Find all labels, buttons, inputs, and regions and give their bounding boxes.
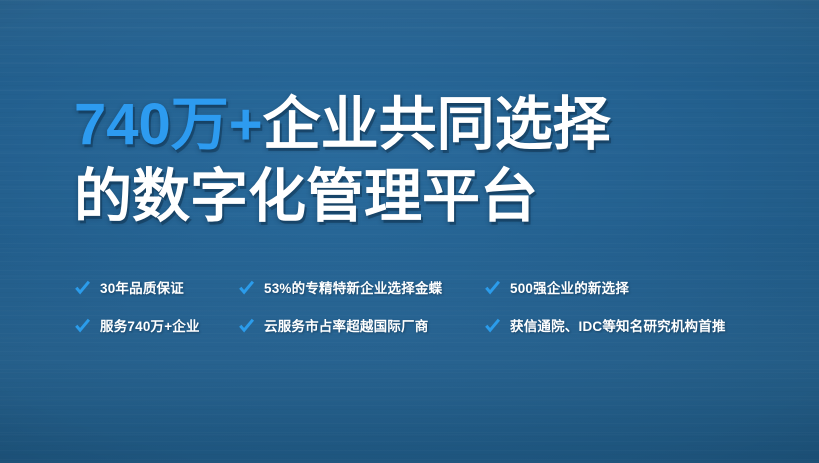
bullet-label: 53%的专精特新企业选择金蝶 (264, 277, 442, 297)
bullet-item-quality-guarantee: 30年品质保证 (74, 277, 238, 297)
bullet-label: 500强企业的新选择 (510, 277, 629, 297)
check-icon (74, 279, 91, 296)
banner-content: 740万+企业共同选择 的数字化管理平台 30年品质保证 53%的专精特新企业选… (0, 0, 819, 463)
promo-banner: 740万+企业共同选择 的数字化管理平台 30年品质保证 53%的专精特新企业选… (0, 0, 819, 463)
check-icon (238, 279, 255, 296)
bullet-item-sme-share: 53%的专精特新企业选择金蝶 (238, 277, 484, 297)
check-icon (74, 317, 91, 334)
bullet-item-enterprises-served: 服务740万+企业 (74, 315, 238, 335)
headline-line-1-rest: 企业共同选择 (263, 92, 611, 157)
bullet-label: 云服务市占率超越国际厂商 (264, 315, 428, 335)
bullet-item-analyst-recommended: 获信通院、IDC等知名研究机构首推 (484, 315, 774, 335)
feature-bullet-grid: 30年品质保证 53%的专精特新企业选择金蝶 500强企业的新选择 (74, 268, 774, 344)
check-icon (484, 317, 501, 334)
headline-accent-number: 740万+ (74, 92, 263, 157)
bullet-item-fortune-500: 500强企业的新选择 (484, 277, 774, 297)
bullet-label: 30年品质保证 (100, 277, 184, 297)
bullet-row-1: 30年品质保证 53%的专精特新企业选择金蝶 500强企业的新选择 (74, 268, 774, 306)
bullet-label: 服务740万+企业 (100, 315, 200, 335)
check-icon (484, 279, 501, 296)
bullet-row-2: 服务740万+企业 云服务市占率超越国际厂商 获信通院、IDC等知名研究机构首推 (74, 306, 774, 344)
headline-line-2: 的数字化管理平台 (74, 168, 611, 226)
headline-line-1: 740万+企业共同选择 (74, 96, 611, 154)
headline: 740万+企业共同选择 的数字化管理平台 (74, 96, 611, 226)
bullet-item-cloud-market-share: 云服务市占率超越国际厂商 (238, 315, 484, 335)
bullet-label: 获信通院、IDC等知名研究机构首推 (510, 315, 726, 335)
check-icon (238, 317, 255, 334)
